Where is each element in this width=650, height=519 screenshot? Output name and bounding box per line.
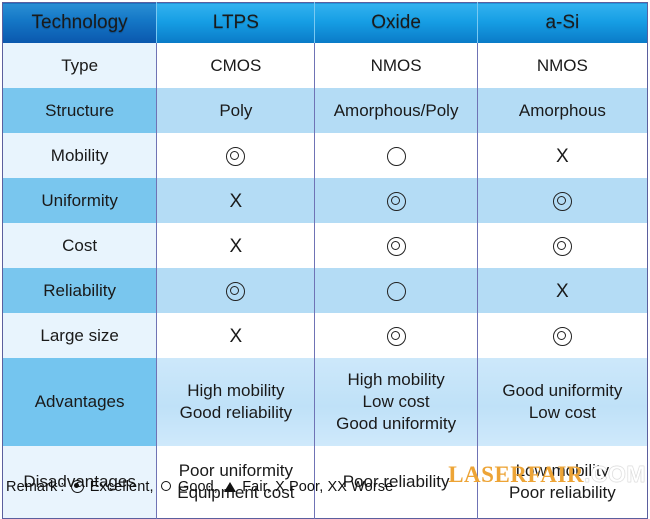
legend-remark: Remark : Excellent, Good, Fair, X Poor, … [6,479,393,495]
cell-cost-ltps: X [157,223,315,268]
cell-uniformity-ltps: X [157,178,315,223]
cell-advantages-ltps: High mobilityGood reliability [157,358,315,446]
table-header: Technology LTPS Oxide a-Si [3,3,648,44]
cell-large-size-ltps: X [157,313,315,358]
cell-structure-ltps: Poly [157,88,315,133]
circle-icon [161,481,171,491]
double-circle-icon [553,327,572,346]
cell-text-line: Good uniformity [315,413,476,435]
double-circle-icon [387,237,406,256]
table-row: Type CMOS NMOS NMOS [3,43,648,88]
watermark: LASERFAIR.COM [448,461,646,488]
cell-cost-oxide [315,223,477,268]
double-circle-icon [71,480,84,493]
cell-text-line: Low cost [315,391,476,413]
row-label-large-size: Large size [3,313,157,358]
double-circle-icon [553,192,572,211]
x-mark-icon: X [230,327,243,346]
double-circle-icon [226,147,245,166]
legend-good: Good, [178,479,218,495]
cell-structure-oxide: Amorphous/Poly [315,88,477,133]
table-row: Large size X [3,313,648,358]
triangle-icon [224,482,236,492]
double-circle-icon [387,192,406,211]
column-header-ltps: LTPS [157,3,315,44]
table-row: Mobility X [3,133,648,178]
column-header-asi: a-Si [477,3,647,44]
column-header-oxide: Oxide [315,3,477,44]
row-label-structure: Structure [3,88,157,133]
circle-icon [387,147,406,166]
cell-type-asi: NMOS [477,43,647,88]
cell-text-line: High mobility [157,380,314,402]
double-circle-icon [553,237,572,256]
cell-mobility-ltps [157,133,315,178]
technology-comparison-table: Technology LTPS Oxide a-Si Type CMOS NMO… [2,2,648,519]
header-row: Technology LTPS Oxide a-Si [3,3,648,44]
cell-advantages-oxide: High mobilityLow costGood uniformity [315,358,477,446]
column-header-technology: Technology [3,3,157,44]
cell-uniformity-oxide [315,178,477,223]
cell-text-line: Good reliability [157,402,314,424]
x-mark-icon: X [230,192,243,211]
double-circle-icon [226,282,245,301]
watermark-name: LASERFAIR [448,462,584,487]
row-label-reliability: Reliability [3,268,157,313]
legend-excellent: Excellent, [90,479,154,495]
circle-icon [387,282,406,301]
cell-mobility-asi: X [477,133,647,178]
row-label-type: Type [3,43,157,88]
cell-advantages-asi: Good uniformityLow cost [477,358,647,446]
comparison-table-page: Technology LTPS Oxide a-Si Type CMOS NMO… [0,2,650,505]
legend-worse: XX Worse [327,479,393,495]
row-label-uniformity: Uniformity [3,178,157,223]
table-row-advantages: Advantages High mobilityGood reliability… [3,358,648,446]
row-label-advantages: Advantages [3,358,157,446]
legend-prefix: Remark : [6,479,65,495]
cell-reliability-asi: X [477,268,647,313]
row-label-cost: Cost [3,223,157,268]
cell-mobility-oxide [315,133,477,178]
x-mark-icon: X [556,147,569,166]
cell-large-size-oxide [315,313,477,358]
cell-structure-asi: Amorphous [477,88,647,133]
cell-text-line: Good uniformity [478,380,647,402]
cell-text-line: Low cost [478,402,647,424]
table-row: Reliability X [3,268,648,313]
cell-type-oxide: NMOS [315,43,477,88]
x-mark-icon: X [230,237,243,256]
table-row: Cost X [3,223,648,268]
cell-type-ltps: CMOS [157,43,315,88]
double-circle-icon [387,327,406,346]
cell-uniformity-asi [477,178,647,223]
row-label-mobility: Mobility [3,133,157,178]
legend-fair: Fair, [242,479,271,495]
legend-poor: X Poor, [275,479,323,495]
cell-reliability-oxide [315,268,477,313]
table-row: Uniformity X [3,178,648,223]
watermark-domain: .COM [584,461,646,487]
table-row: Structure Poly Amorphous/Poly Amorphous [3,88,648,133]
table-body: Type CMOS NMOS NMOS Structure Poly Amorp… [3,43,648,519]
x-mark-icon: X [556,282,569,301]
cell-reliability-ltps [157,268,315,313]
cell-cost-asi [477,223,647,268]
cell-large-size-asi [477,313,647,358]
cell-text-line: High mobility [315,369,476,391]
